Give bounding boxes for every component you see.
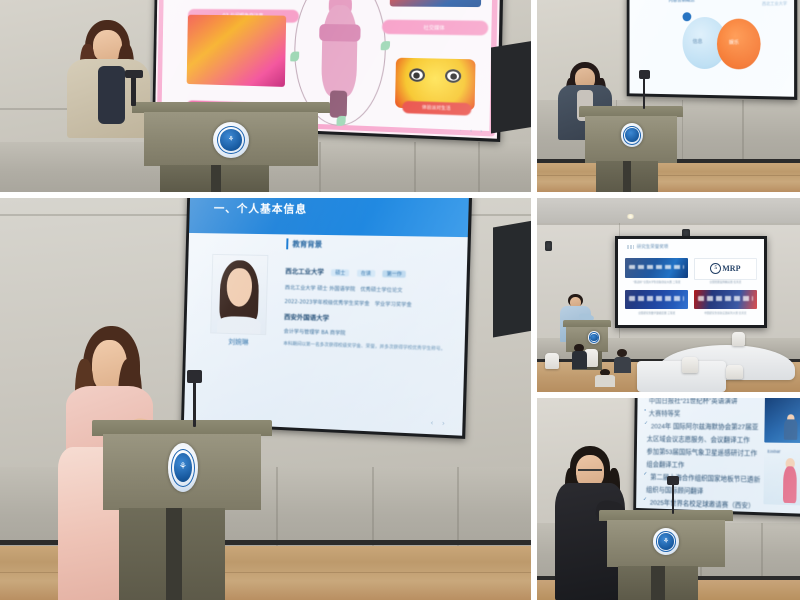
microphone-icon [182,370,207,428]
slide-label-3: 社交媒体 [382,20,488,35]
collage-divider-horizontal [537,392,800,398]
chair [545,353,559,369]
slide-chip: 第一作 [382,270,406,278]
slide-personal-info: 一、个人基本信息 刘婉琳 教育背景 西北工业大学 [184,198,469,436]
lectern: ⚘ [132,102,330,192]
projection-screen: 一、个人基本信息 刘婉琳 教育背景 西北工业大学 [181,198,472,439]
slide-pager: · ‹ › [460,127,486,134]
bullet-dots-icon [627,245,634,249]
photo-collage: 03 与闲暇争夺注意 超燃的节奏感 [0,0,800,600]
wall-seam [372,467,374,547]
list-item: ✓第二届上海合作组织国家地板节已遴新 [643,471,761,484]
slide-side-photo: Eisbar [764,446,800,506]
wall-seam [414,142,416,192]
wall-seam [761,523,763,578]
wall-seam [742,100,744,163]
slide-image-tile [187,15,286,87]
ceiling [537,198,800,223]
slide-award-tile: 全国研究生数学建模竞赛 三等奖 [625,290,688,317]
slide-chip: 在读 [357,269,375,276]
slide-title: 一、个人基本信息 [214,200,308,217]
photo-panel-middle-right: 研究生荣誉奖项 “挑战杯”全国大学生创新创业大赛 二等奖 5 [537,198,800,392]
wall-seam [276,467,278,547]
slide-line: 西北工业大学 硕士 外国语学院 优秀硕士学位论文 [285,284,452,295]
slide-label-2: 体验派对生活 [402,101,472,115]
audience-member [613,349,631,373]
list-item: ✓2024年 国际阿尔兹海默协会第27届亚 [644,420,762,431]
wall-seam [457,467,459,547]
slide-image-tile [390,0,482,7]
slide-person-name: 刘婉琳 [213,336,265,348]
slide-pager: ‹ › [430,419,448,428]
ceiling-trim [537,223,800,225]
secondary-display [493,220,531,337]
university-seal-icon: ⚘ [653,528,680,555]
slide-circle-orange-label: 娱乐 [729,39,739,46]
university-seal-icon: ⚘ [168,443,199,492]
lectern: ⚘ [92,420,272,600]
list-item: 参加第53届国际气象卫星遥感研讨工作 [644,445,762,457]
collage-divider-horizontal [0,192,800,198]
slide-side-photo [764,398,800,443]
list-item: •中国日报社“21世纪杯”英语演讲 [644,398,762,405]
lectern: ⚘ [599,510,733,600]
slide-title: 内容营销概念 [669,0,695,4]
projection-screen: 研究生荣誉奖项 “挑战杯”全国大学生创新创业大赛 二等奖 5 [615,236,767,328]
secondary-display [491,41,531,134]
ceiling-light-icon [626,214,635,219]
chair [682,357,698,373]
audience-member [595,369,615,387]
slide-line: 本科期间以第一名多次获得校级奖学金、荣誉，并多次获得学校优秀学生称号。 [283,341,450,353]
audience-member [571,344,587,369]
slide-section-heading: 教育背景 [286,239,322,251]
glasses-icon [578,469,602,471]
photo-panel-top-right: 内容营销概念 西北工业大学 信息 娱乐 [537,0,800,192]
list-item: 组会翻译工作 [643,458,761,470]
list-item: 太区域会议志愿服务、会议翻译工作 [644,433,762,444]
microphone-icon [663,476,683,514]
projection-screen: •学英语演讲大赛暨2025“外研社国杯” •中国日报社“21世纪杯”英语演讲 •… [633,398,800,517]
slide-award-tile: 5 MRP 全国管理案例精英赛 优秀奖 [694,258,757,285]
slide-achievements: •学英语演讲大赛暨2025“外研社国杯” •中国日报社“21世纪杯”英语演讲 •… [636,398,800,514]
slide-line: 会计学与管理学 BA 商学院 [284,327,451,339]
photo-panel-bottom-right: •学英语演讲大赛暨2025“外研社国杯” •中国日报社“21世纪杯”英语演讲 •… [537,398,800,600]
slide-circle-orange [717,18,761,69]
list-item: •大赛特等奖 [644,407,762,417]
slide-chip: 硕士 [331,269,349,276]
slide-title-bar: 一、个人基本信息 [189,198,469,237]
slide-side-label: Eisbar [767,449,780,454]
wall-seam [478,142,480,192]
slide-marker-dot [683,12,691,21]
slide-title: 研究生荣誉奖项 [637,244,669,250]
slide-portrait-photo [210,254,268,336]
slide-line: 西北工业大学 硕士 在读 第一作 [285,260,452,282]
chair [726,365,743,379]
slide-two-circles: 内容营销概念 西北工业大学 信息 娱乐 [630,0,795,97]
slide-award-tile: 中国研究生创新实践系列大赛 优秀奖 [694,290,757,317]
list-item: 组织与国际顾问翻译 [643,483,761,496]
slide-award-tile: “挑战杯”全国大学生创新创业大赛 二等奖 [625,258,688,285]
slide-side-figures: Eisbar [764,398,800,506]
slide-education-lines: 西北工业大学 硕士 在读 第一作 西北工业大学 硕士 外国语学院 优秀硕士学位论… [283,260,452,359]
microphone-icon [635,70,654,110]
collage-divider-vertical [531,0,537,600]
slide-circle-blue-label: 信息 [693,38,703,45]
microphone-icon [118,70,150,106]
slide-line: 2022-2023学年校级优秀学生奖学金 学业学习奖学金 [284,298,451,309]
slide-line: 西安外国语大学 [284,311,451,326]
chair [732,332,745,346]
slide-awards: 研究生荣誉奖项 “挑战杯”全国大学生创新创业大赛 二等奖 5 [618,239,764,325]
lectern [579,106,683,192]
mrp-logo-icon: 5 MRP [710,263,740,274]
photo-panel-bottom-left: 一、个人基本信息 刘婉琳 教育背景 西北工业大学 [0,198,531,600]
speaker-icon [545,241,552,251]
list-item: ✓2025年世界名校足球邀请赛（西安） [643,496,761,510]
slide-bullet-list: •学英语演讲大赛暨2025“外研社国杯” •中国日报社“21世纪杯”英语演讲 •… [643,398,763,514]
university-seal-icon: ⚘ [213,122,249,158]
slide-heading-row: 研究生荣誉奖项 [627,244,669,250]
slide-watermark: 西北工业大学 [762,1,787,8]
photo-panel-top-left: 03 与闲暇争夺注意 超燃的节奏感 [0,0,531,192]
